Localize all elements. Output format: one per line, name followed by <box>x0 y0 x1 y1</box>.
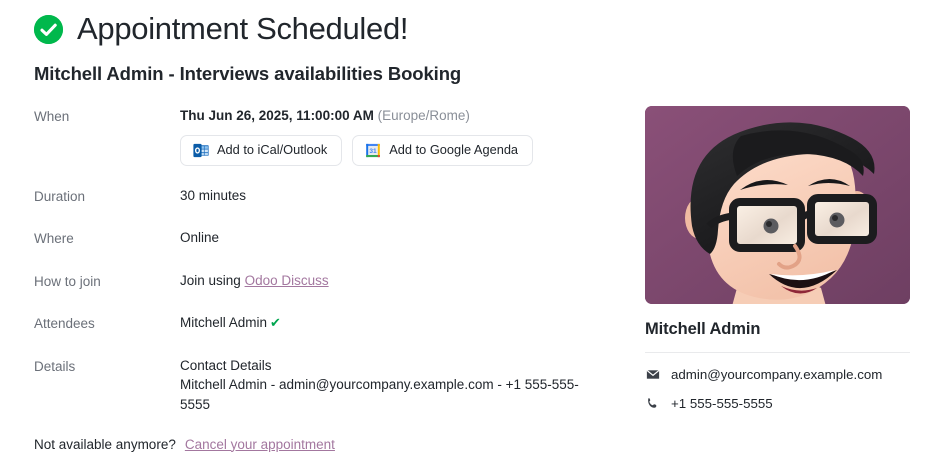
organizer-email: admin@yourcompany.example.com <box>671 367 882 382</box>
cancel-section: Not available anymore? Cancel your appoi… <box>34 437 634 452</box>
check-circle-icon <box>34 15 63 44</box>
label-when: When <box>34 106 180 127</box>
contact-details-heading: Contact Details <box>180 356 585 376</box>
organizer-divider <box>645 352 910 353</box>
label-duration: Duration <box>34 186 180 207</box>
contact-details-text: Mitchell Admin - admin@yourcompany.examp… <box>180 375 585 414</box>
value-how-to-join: Join using Odoo Discuss <box>180 271 634 291</box>
add-to-google-agenda-label: Add to Google Agenda <box>389 144 518 157</box>
phone-icon <box>645 397 660 410</box>
envelope-icon <box>645 369 660 380</box>
appointment-confirmation-page: Appointment Scheduled! Mitchell Admin - … <box>0 0 933 450</box>
calendar-buttons: Add to iCal/Outlook <box>180 135 634 166</box>
page-header: Appointment Scheduled! <box>0 0 933 46</box>
add-to-ical-outlook-label: Add to iCal/Outlook <box>217 144 327 157</box>
label-where: Where <box>34 228 180 249</box>
info-row-when: When Thu Jun 26, 2025, 11:00:00 AM (Euro… <box>34 106 634 166</box>
info-row-duration: Duration 30 minutes <box>34 186 634 207</box>
label-how-to-join: How to join <box>34 271 180 292</box>
add-to-google-agenda-button[interactable]: 31 Add to Google Agenda <box>352 135 533 166</box>
google-calendar-icon: 31 <box>365 143 381 158</box>
check-mark-icon: ✔ <box>270 315 281 330</box>
content-body: When Thu Jun 26, 2025, 11:00:00 AM (Euro… <box>0 106 933 452</box>
appointment-timezone: (Europe/Rome) <box>378 108 470 123</box>
not-available-text: Not available anymore? <box>34 437 176 452</box>
join-using-text: Join using <box>180 273 241 288</box>
info-row-where: Where Online <box>34 228 634 249</box>
organizer-email-row: admin@yourcompany.example.com <box>645 367 910 382</box>
appointment-details-column: When Thu Jun 26, 2025, 11:00:00 AM (Euro… <box>34 106 634 452</box>
organizer-panel: Mitchell Admin admin@yourcompany.example… <box>645 106 910 452</box>
value-attendees: Mitchell Admin✔ <box>180 313 634 333</box>
info-row-details: Details Contact Details Mitchell Admin -… <box>34 356 634 415</box>
value-duration: 30 minutes <box>180 186 634 206</box>
label-attendees: Attendees <box>34 313 180 334</box>
value-details: Contact Details Mitchell Admin - admin@y… <box>180 356 585 415</box>
svg-text:31: 31 <box>370 148 378 155</box>
outlook-icon <box>193 143 209 158</box>
info-row-attendees: Attendees Mitchell Admin✔ <box>34 313 634 334</box>
organizer-name: Mitchell Admin <box>645 320 910 339</box>
add-to-ical-outlook-button[interactable]: Add to iCal/Outlook <box>180 135 342 166</box>
organizer-phone: +1 555-555-5555 <box>671 396 773 411</box>
appointment-subtitle: Mitchell Admin - Interviews availabiliti… <box>34 63 933 85</box>
cancel-appointment-link[interactable]: Cancel your appointment <box>185 437 335 452</box>
info-row-how-to-join: How to join Join using Odoo Discuss <box>34 271 634 292</box>
organizer-phone-row: +1 555-555-5555 <box>645 396 910 411</box>
attendee-name: Mitchell Admin <box>180 315 267 330</box>
label-details: Details <box>34 356 180 377</box>
value-where: Online <box>180 228 634 248</box>
appointment-datetime: Thu Jun 26, 2025, 11:00:00 AM <box>180 108 374 123</box>
odoo-discuss-link[interactable]: Odoo Discuss <box>245 273 329 288</box>
value-when: Thu Jun 26, 2025, 11:00:00 AM (Europe/Ro… <box>180 106 634 166</box>
page-title: Appointment Scheduled! <box>77 12 408 46</box>
organizer-avatar <box>645 106 910 304</box>
